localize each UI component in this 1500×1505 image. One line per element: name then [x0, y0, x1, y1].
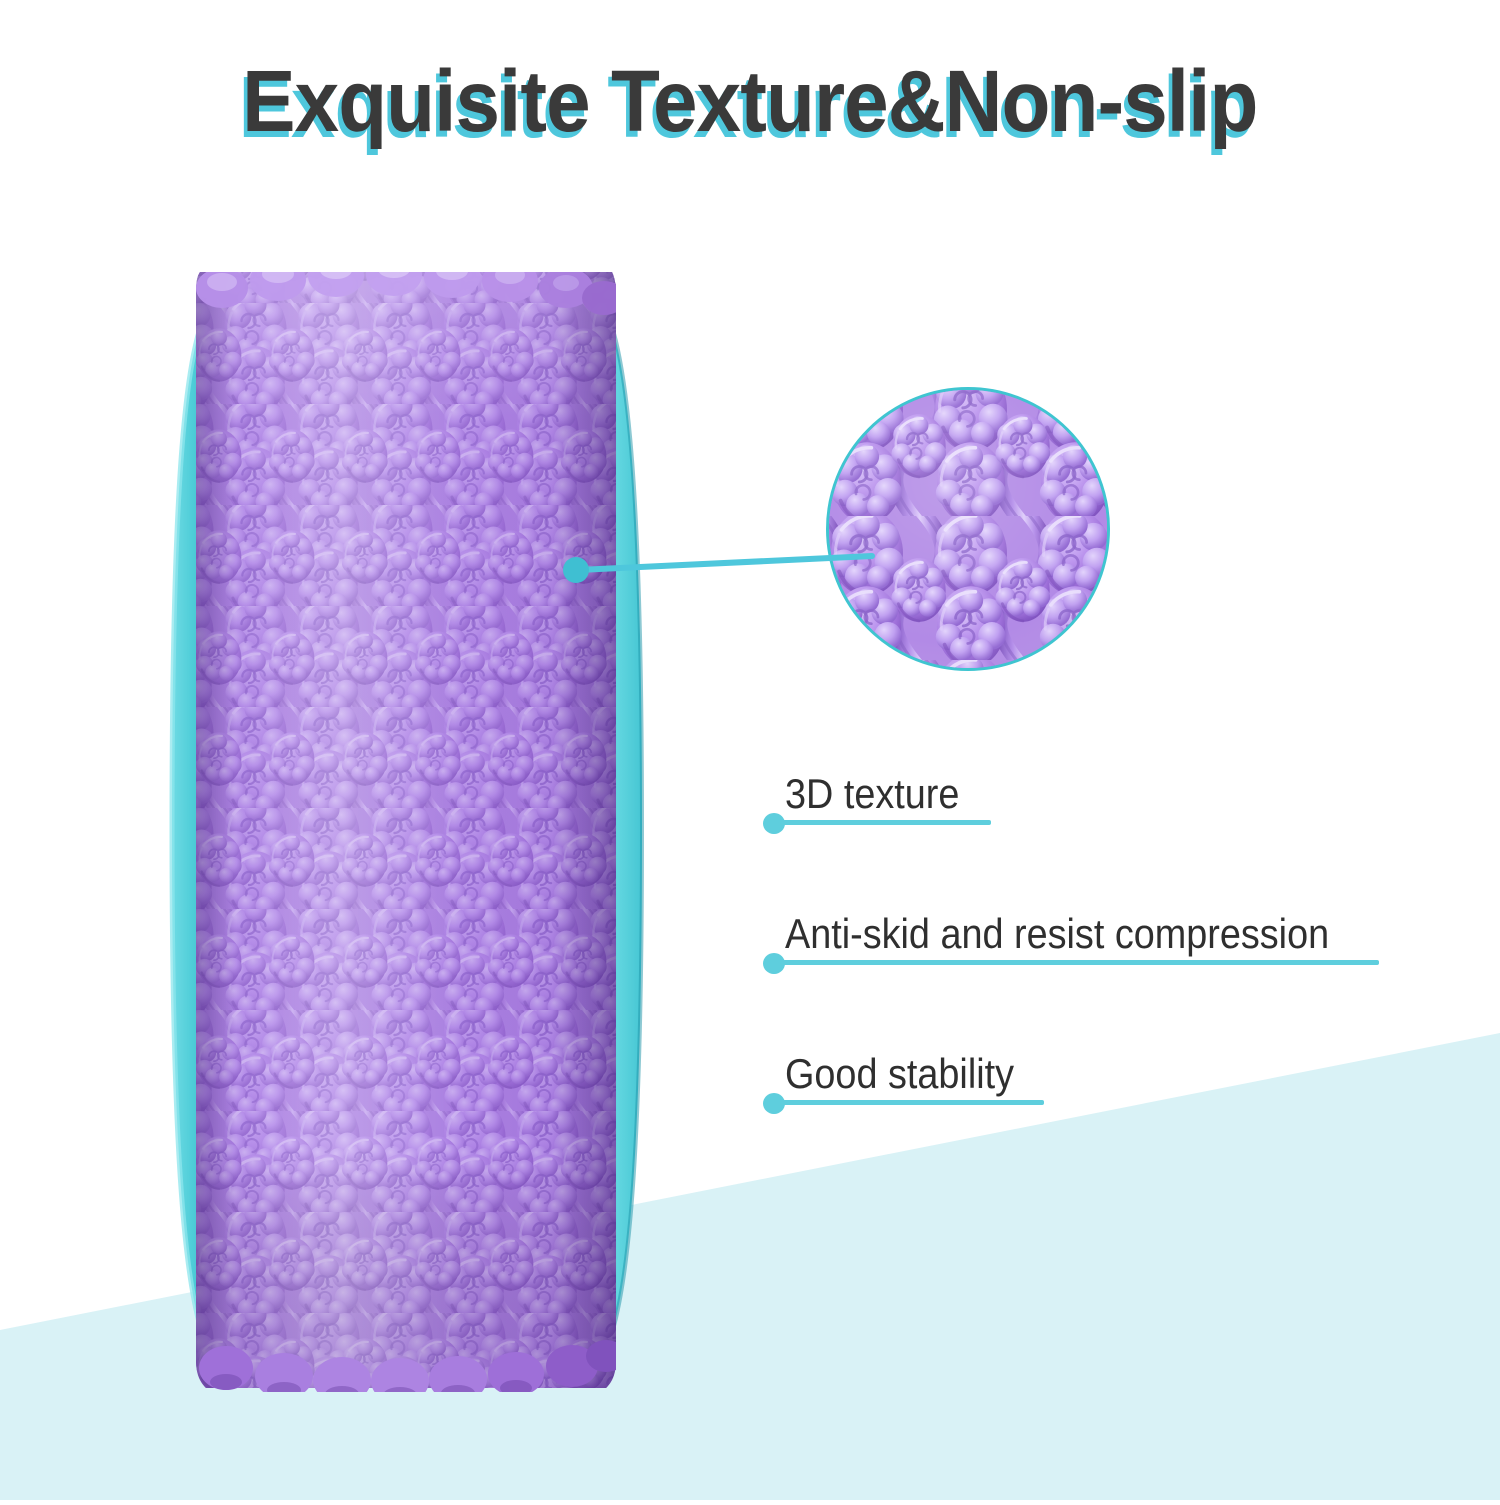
feature-label: 3D texture: [785, 773, 959, 815]
page-title: Exquisite Texture&Non-slip: [242, 58, 1257, 145]
feature-bullet-dot: [763, 813, 785, 834]
feature-bullet-dot: [763, 953, 785, 974]
feature-bullet-dot: [763, 1093, 785, 1114]
feature-label: Anti-skid and resist compression: [785, 913, 1329, 955]
feature-underline: [779, 820, 991, 825]
feature-underline: [779, 1100, 1044, 1105]
page-title-container: Exquisite Texture&Non-slip: [0, 58, 1500, 145]
product-image: [0, 0, 800, 1500]
texture-zoom-circle: [826, 387, 1110, 671]
feature-label: Good stability: [785, 1053, 1014, 1095]
feature-underline: [779, 960, 1379, 965]
foam-sleeve: [190, 262, 626, 1402]
